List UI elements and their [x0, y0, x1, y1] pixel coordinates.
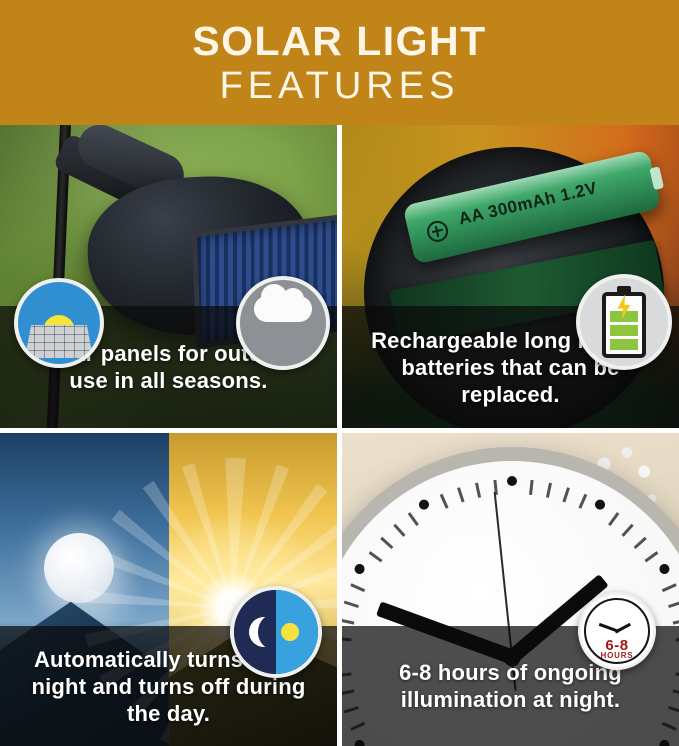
clock-tick: [634, 537, 647, 549]
clock-icon: 6-8 HOURS: [578, 592, 656, 670]
clock-badge-face: 6-8 HOURS: [584, 598, 650, 664]
clock-tick: [562, 487, 569, 502]
clock-tick: [546, 483, 552, 498]
clock-tick: [507, 476, 517, 486]
clock-tick: [644, 551, 658, 562]
sun-icon: [281, 623, 299, 641]
clock-tick: [342, 619, 354, 625]
cloud-shape: [254, 296, 312, 322]
day-half-shape: [276, 590, 318, 674]
header-banner: SOLAR LIGHT FEATURES: [0, 0, 679, 125]
crescent-moon-icon: [249, 617, 279, 647]
clock-tick: [344, 601, 359, 608]
solar-panel-icon: [14, 278, 104, 368]
battery-label: AA 300mAh 1.2V: [457, 178, 599, 229]
clock-tick: [408, 512, 419, 526]
clock-tick: [668, 601, 679, 608]
clock-tick: [457, 487, 464, 502]
clock-tick: [369, 551, 383, 562]
clock-tick: [380, 537, 393, 549]
rain-cloud-icon: [236, 276, 330, 370]
clock-tick: [417, 498, 431, 512]
clock-tick: [673, 619, 679, 625]
charging-battery-icon: [576, 274, 672, 370]
day-night-icon: [230, 586, 322, 678]
battery-bar: [610, 325, 638, 336]
clock-tick: [658, 562, 672, 576]
clock-tick: [593, 498, 607, 512]
clock-tick: [475, 483, 481, 498]
clock-tick: [529, 480, 534, 495]
clock-tick: [440, 494, 449, 509]
clock-tick: [393, 524, 405, 537]
feature-grid: Solar panels for outdoor use in all seas…: [0, 125, 679, 746]
battery-bar: [610, 339, 638, 350]
feature-cell-runtime: 6-8 hours of ongoing illumination at nig…: [342, 433, 679, 746]
runtime-badge-unit: HOURS: [586, 652, 648, 660]
night-half-shape: [234, 590, 276, 674]
clock-tick: [621, 524, 633, 537]
page-title-primary: SOLAR LIGHT: [192, 18, 486, 64]
battery-polarity-icon: [425, 219, 450, 244]
clock-badge-minute-hand: [599, 623, 620, 633]
clock-tick: [353, 562, 367, 576]
clock-tick: [578, 494, 587, 509]
clock-tick: [662, 583, 677, 592]
solar-light-features-infographic: SOLAR LIGHT FEATURES Solar panels for ou…: [0, 0, 679, 746]
battery-terminal: [649, 166, 664, 190]
page-title-secondary: FEATURES: [220, 65, 460, 107]
clock-tick: [350, 583, 365, 592]
clock-tick: [608, 512, 619, 526]
solar-panel-grid-shape: [25, 325, 93, 358]
